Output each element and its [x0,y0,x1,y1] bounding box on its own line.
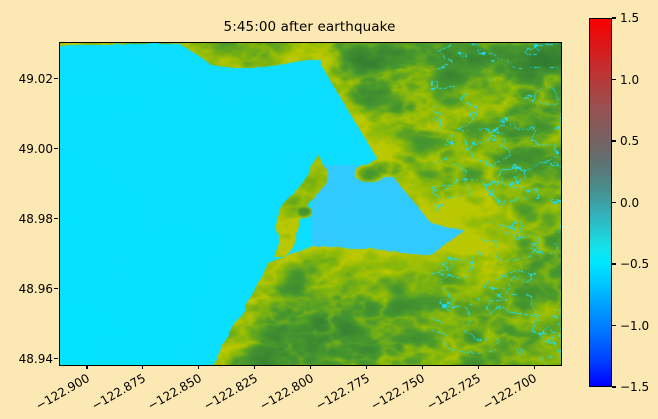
colorbar-tick-mark [612,386,616,387]
x-tick-mark [310,365,311,369]
colorbar-tick-label: −0.5 [620,257,649,271]
figure-canvas: 5:45:00 after earthquake 49.0249.0048.98… [0,0,658,419]
y-tick-mark [54,148,58,149]
colorbar-tick-mark [612,79,616,80]
colorbar-tick-label: 1.0 [620,73,639,87]
colorbar-tick-mark [612,202,616,203]
x-tick-mark [534,365,535,369]
y-tick-label: 49.00 [19,142,53,156]
colorbar-gradient [589,18,612,387]
heatmap-raster [60,43,561,365]
y-tick-label: 48.96 [19,282,53,296]
x-tick-mark [198,365,199,369]
x-tick-mark [86,365,87,369]
colorbar-tick-label: 1.5 [620,11,639,25]
colorbar-tick-label: 0.0 [620,196,639,210]
x-tick-mark [142,365,143,369]
colorbar-tick-label: −1.5 [620,380,649,394]
x-tick-mark [478,365,479,369]
y-tick-label: 48.94 [19,352,53,366]
colorbar-tick-mark [612,140,616,141]
x-tick-mark [422,365,423,369]
y-tick-mark [54,358,58,359]
colorbar-tick-mark [612,263,616,264]
y-tick-label: 49.02 [19,72,53,86]
colorbar-tick-mark [612,325,616,326]
chart-title: 5:45:00 after earthquake [59,19,560,35]
y-tick-mark [54,288,58,289]
y-axis-labels: 49.0249.0048.9848.9648.94 [0,0,53,419]
x-tick-mark [366,365,367,369]
colorbar-tick-mark [612,17,616,18]
x-tick-mark [254,365,255,369]
y-tick-label: 48.98 [19,212,53,226]
colorbar-tick-label: −1.0 [620,319,649,333]
colorbar-tick-label: 0.5 [620,134,639,148]
y-tick-mark [54,78,58,79]
map-axes[interactable] [59,42,562,366]
y-tick-mark [54,218,58,219]
